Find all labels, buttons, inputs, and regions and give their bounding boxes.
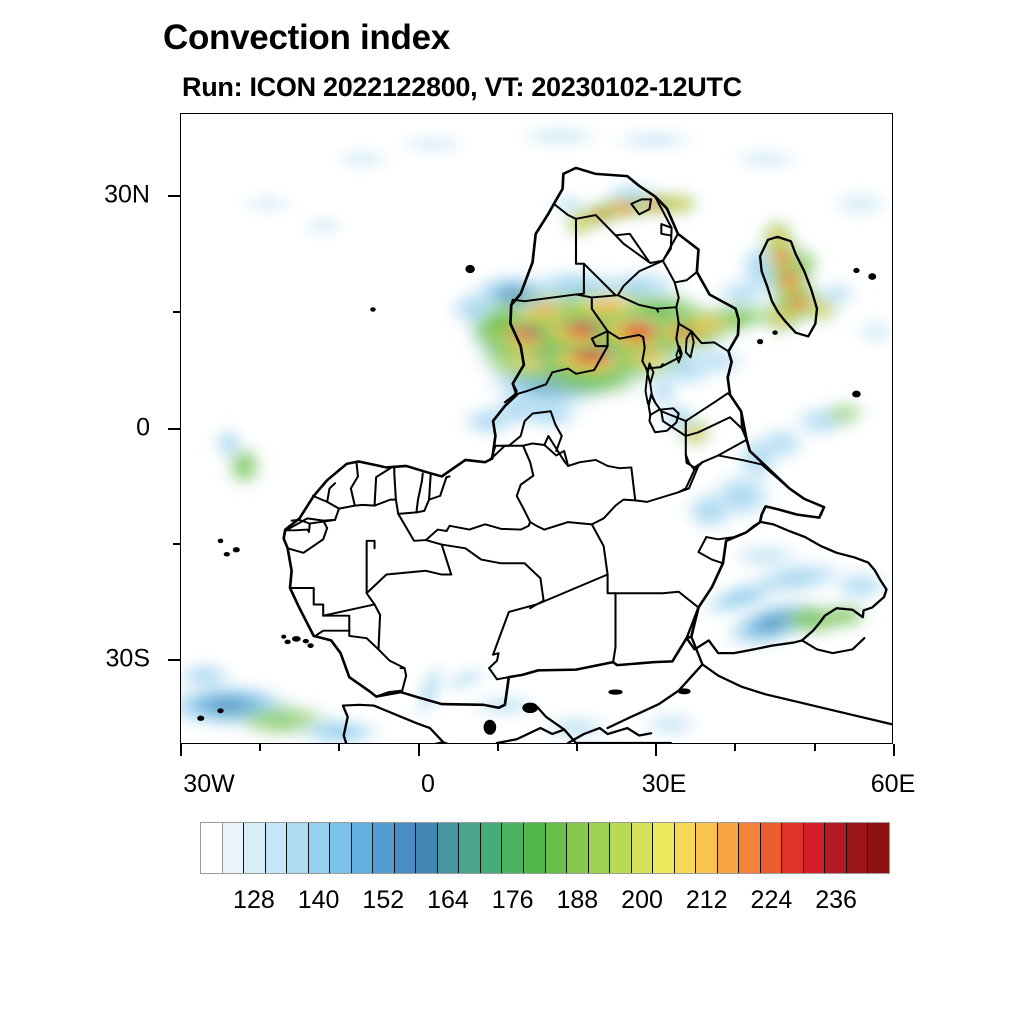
colorbar-cell: [825, 823, 847, 873]
page-title: Convection index: [163, 18, 450, 58]
colorbar-cell: [546, 823, 568, 873]
colorbar-cell: [868, 823, 889, 873]
x-axis-label-30w: 30W: [183, 770, 234, 799]
x-axis-label-0: 0: [421, 770, 435, 799]
colorbar-cell: [223, 823, 245, 873]
colorbar-tick-label: 200: [621, 886, 663, 915]
colorbar-cell: [739, 823, 761, 873]
colorbar-cell: [589, 823, 611, 873]
colorbar-cell: [782, 823, 804, 873]
y-tick-15n: [173, 311, 180, 313]
colorbar-cell: [610, 823, 632, 873]
x-tick-20w: [259, 744, 261, 751]
colorbar-cell: [481, 823, 503, 873]
x-tick-20e: [576, 744, 578, 751]
colorbar-cell: [653, 823, 675, 873]
y-axis-label-30s: 30S: [30, 645, 150, 674]
colorbar-cell: [266, 823, 288, 873]
colorbar-cell: [352, 823, 374, 873]
convection-field-layer: [181, 126, 892, 743]
colorbar-tick-label: 224: [751, 886, 793, 915]
colorbar-tick-label: 152: [362, 886, 404, 915]
colorbar-tick-label: 164: [427, 886, 469, 915]
x-tick-0: [418, 744, 420, 756]
y-tick-0: [168, 428, 180, 430]
x-tick-30w: [180, 744, 182, 756]
x-axis-label-60e: 60E: [871, 770, 915, 799]
colorbar-cell: [632, 823, 654, 873]
colorbar-cell: [201, 823, 223, 873]
colorbar-cell: [502, 823, 524, 873]
colorbar-tick-label: 212: [686, 886, 728, 915]
colorbar-tick-label: 188: [556, 886, 598, 915]
colorbar[interactable]: [200, 822, 890, 874]
colorbar-cell: [761, 823, 783, 873]
colorbar-tick-label: 176: [492, 886, 534, 915]
colorbar-cell: [395, 823, 417, 873]
page-subtitle: Run: ICON 2022122800, VT: 20230102-12UTC: [182, 72, 742, 103]
colorbar-tick-label: 128: [233, 886, 275, 915]
colorbar-cell: [567, 823, 589, 873]
colorbar-tick-label: 236: [815, 886, 857, 915]
colorbar-cell: [330, 823, 352, 873]
colorbar-cell: [459, 823, 481, 873]
y-axis-label-0: 0: [30, 414, 150, 443]
x-tick-40e: [734, 744, 736, 751]
colorbar-cell: [416, 823, 438, 873]
map-plot-area: [180, 113, 893, 744]
y-tick-30n: [168, 195, 180, 197]
colorbar-cell: [309, 823, 331, 873]
colorbar-cell: [675, 823, 697, 873]
y-axis-label-30n: 30N: [30, 181, 150, 210]
colorbar-cell: [696, 823, 718, 873]
x-tick-30e: [655, 744, 657, 756]
y-tick-30s: [168, 659, 180, 661]
colorbar-cell: [373, 823, 395, 873]
x-tick-60e: [893, 744, 895, 756]
x-axis-label-30e: 30E: [642, 770, 686, 799]
colorbar-cell: [718, 823, 740, 873]
colorbar-tick-label: 140: [298, 886, 340, 915]
x-tick-10w: [338, 744, 340, 751]
colorbar-cell: [524, 823, 546, 873]
colorbar-cell: [438, 823, 460, 873]
colorbar-cell: [804, 823, 826, 873]
map-canvas: [181, 114, 892, 743]
colorbar-cell: [847, 823, 869, 873]
x-tick-10e: [497, 744, 499, 751]
x-tick-50e: [814, 744, 816, 751]
colorbar-cell: [287, 823, 309, 873]
colorbar-cell: [244, 823, 266, 873]
y-tick-15s: [173, 543, 180, 545]
